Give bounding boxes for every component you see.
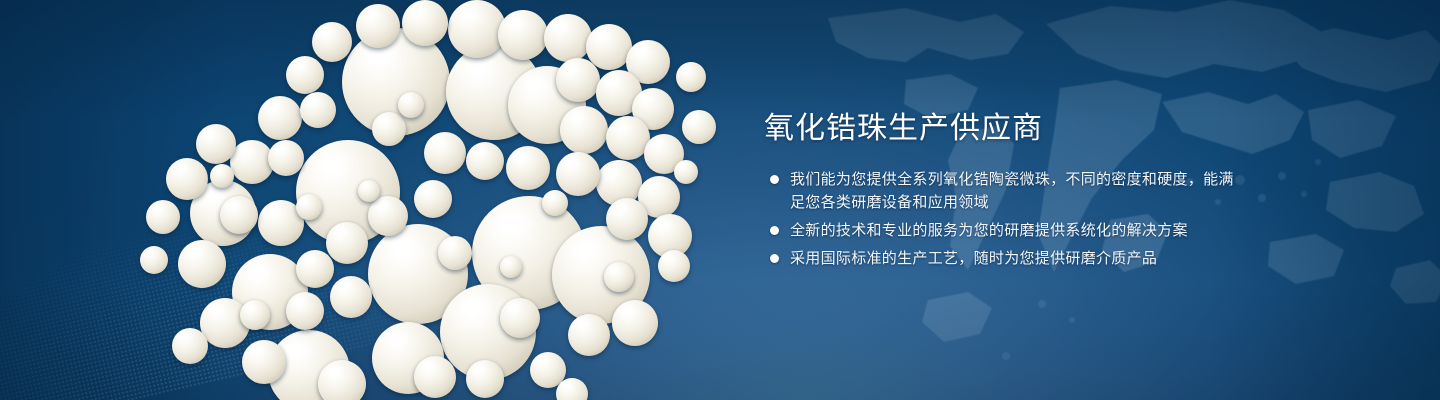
feature-list: 我们能为您提供全系列氧化锆陶瓷微珠，不同的密度和硬度，能满足您各类研磨设备和应用… [764, 168, 1234, 275]
bead [330, 276, 372, 318]
bead [210, 164, 234, 188]
page-title: 氧化锆珠生产供应商 [764, 110, 1043, 148]
list-item-text: 全新的技术和专业的服务为您的研磨提供系统化的解决方案 [790, 219, 1234, 242]
bead [568, 314, 610, 356]
bead [300, 92, 336, 128]
bead [398, 92, 424, 118]
zirconia-beads-photo [0, 0, 760, 400]
banner-text-block: 氧化锆珠生产供应商 我们能为您提供全系列氧化锆陶瓷微珠，不同的密度和硬度，能满足… [764, 0, 1324, 400]
bead [658, 250, 690, 282]
bead [402, 0, 448, 46]
bead [230, 140, 274, 184]
bead [268, 140, 304, 176]
bead [414, 180, 452, 218]
bead [166, 158, 208, 200]
bead [674, 160, 698, 184]
bead [286, 292, 324, 330]
bead [500, 256, 522, 278]
bead [542, 190, 568, 216]
bead [258, 96, 302, 140]
list-item-text: 采用国际标准的生产工艺，随时为您提供研磨介质产品 [790, 247, 1234, 270]
bead [682, 110, 716, 144]
bead [178, 240, 226, 288]
bead [612, 300, 658, 346]
bead [556, 58, 600, 102]
bead [448, 0, 506, 58]
bead [466, 360, 504, 398]
bead [556, 152, 600, 196]
list-item: 全新的技术和专业的服务为您的研磨提供系统化的解决方案 [764, 219, 1234, 242]
bead [172, 328, 208, 364]
bead [604, 262, 634, 292]
bead [368, 196, 408, 236]
bead [220, 196, 258, 234]
hero-banner: 氧化锆珠生产供应商 我们能为您提供全系列氧化锆陶瓷微珠，不同的密度和硬度，能满足… [0, 0, 1440, 400]
bead [424, 132, 466, 174]
bead [312, 22, 352, 62]
bead [506, 146, 550, 190]
bead [372, 112, 406, 146]
bullet-dot-icon [770, 175, 779, 184]
list-item: 我们能为您提供全系列氧化锆陶瓷微珠，不同的密度和硬度，能满足您各类研磨设备和应用… [764, 168, 1234, 214]
bead [326, 222, 368, 264]
bead [286, 56, 324, 94]
bead [556, 378, 588, 400]
bead [498, 10, 548, 60]
bullet-dot-icon [770, 254, 779, 263]
bead [466, 142, 504, 180]
bead [414, 356, 456, 398]
bullet-dot-icon [770, 226, 779, 235]
bead [318, 360, 366, 400]
list-item: 采用国际标准的生产工艺，随时为您提供研磨介质产品 [764, 247, 1234, 270]
bead [356, 4, 400, 48]
bead [358, 180, 380, 202]
bead [240, 300, 270, 330]
bead [438, 236, 472, 270]
bead [606, 198, 648, 240]
bead [242, 340, 286, 384]
bead [196, 124, 236, 164]
bead [676, 62, 706, 92]
bead [146, 200, 180, 234]
bead [296, 250, 334, 288]
bead [140, 246, 168, 274]
list-item-text: 我们能为您提供全系列氧化锆陶瓷微珠，不同的密度和硬度，能满足您各类研磨设备和应用… [790, 168, 1234, 214]
bead [296, 194, 322, 220]
bead [544, 14, 592, 62]
bead [560, 106, 608, 154]
bead [500, 298, 540, 338]
